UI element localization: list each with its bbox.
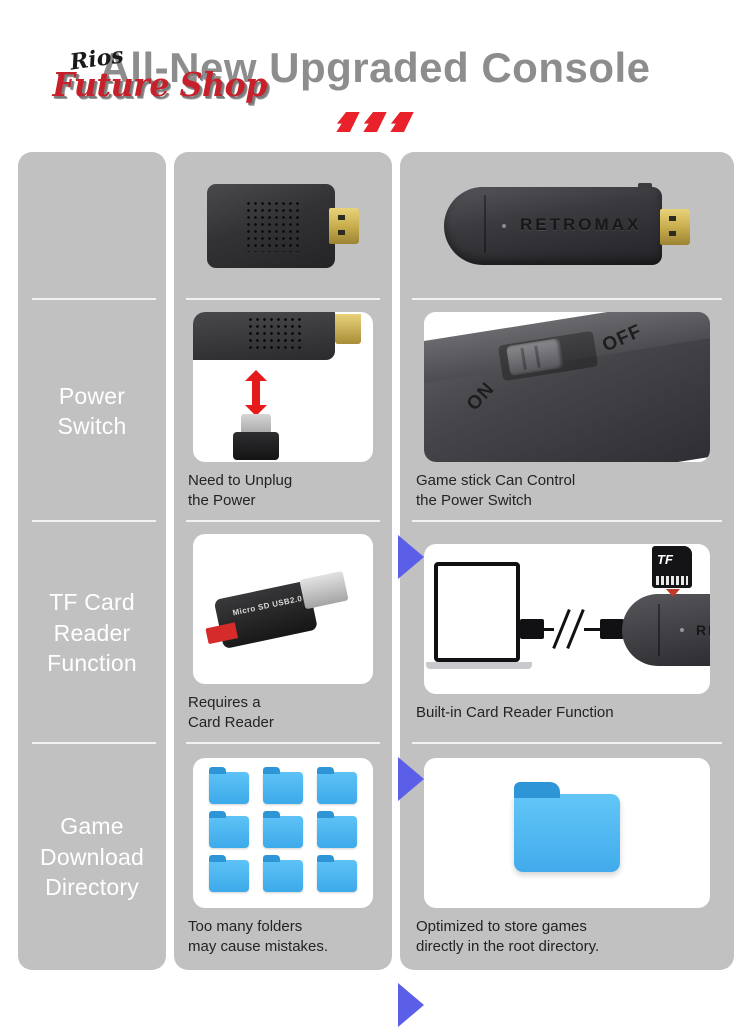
old-console-hero-cell [174, 152, 392, 300]
new-console-hero-cell: RETROMAX [400, 152, 734, 300]
new-directory-image [424, 758, 710, 908]
old-card-reader-caption: Requires a Card Reader [174, 693, 392, 731]
folder-icon [209, 772, 249, 804]
cable-segment [520, 628, 554, 631]
tf-card-label: TF [657, 552, 673, 567]
insert-arrow-icon [666, 589, 680, 597]
led-indicator-icon [680, 628, 684, 632]
new-power-switch-image: ON OFF [424, 312, 710, 462]
caption-line: Need to Unplug [188, 471, 392, 490]
device-nub [638, 183, 652, 189]
old-power-switch-image [193, 312, 373, 462]
caption-line: the Power [188, 491, 392, 510]
label-line: Game [40, 811, 144, 841]
old-directory-caption: Too many folders may cause mistakes. [174, 917, 392, 955]
comparison-grid: Power Switch TF Card Reader Function Gam… [0, 152, 750, 970]
feature-label-text: TF Card Reader Function [47, 587, 137, 678]
caption-line: Too many folders [188, 917, 392, 936]
label-line: Power [58, 381, 127, 411]
hdmi-connector-icon [329, 208, 359, 244]
vent-grid-icon [245, 200, 299, 252]
micro-usb-plug-icon [233, 414, 279, 460]
folder-icon [317, 860, 357, 892]
tf-card-pins [656, 576, 688, 585]
device-seam [484, 195, 486, 253]
cable-connector-icon [600, 619, 624, 639]
caption-line: may cause mistakes. [188, 937, 392, 956]
caption-line: Game stick Can Control [416, 471, 734, 490]
feature-label-tf-card-reader: TF Card Reader Function [18, 522, 166, 744]
comparison-arrow-icon [398, 535, 424, 579]
folder-icon [263, 772, 303, 804]
plug-tip [241, 414, 271, 434]
accent-mark-icon [363, 112, 386, 132]
folder-icon [263, 816, 303, 848]
led-indicator-icon [502, 224, 506, 228]
accent-marks [0, 112, 750, 132]
new-directory-caption: Optimized to store games directly in the… [400, 917, 734, 955]
new-card-reader-cell: RE TF Built-in Card Reader Function [400, 522, 734, 744]
device-seam [658, 604, 660, 656]
old-card-reader-cell: Micro SD USB2.0 Requires a Card Reader [174, 522, 392, 744]
old-console-photo [174, 152, 392, 300]
page-title: All-New Upgraded Console [0, 44, 750, 92]
new-power-switch-caption: Game stick Can Control the Power Switch [400, 471, 734, 509]
accent-mark-icon [336, 112, 359, 132]
new-console-device-icon: RETROMAX [444, 183, 690, 269]
tf-card-icon: TF [652, 546, 692, 588]
old-console-column: Need to Unplug the Power Micro SD USB2.0… [174, 152, 392, 970]
old-console-device-icon [207, 184, 359, 268]
hdmi-connector-icon [660, 209, 690, 245]
new-directory-cell: Optimized to store games directly in the… [400, 744, 734, 970]
on-off-switch-photo: ON OFF [424, 312, 710, 462]
folder-icon [209, 816, 249, 848]
plug-body [233, 432, 279, 460]
vent-grid-icon [247, 316, 305, 350]
caption-line: Optimized to store games [416, 917, 734, 936]
comparison-arrow-icon [398, 983, 424, 1027]
label-spacer-cell [18, 152, 166, 300]
device-brand-text: RE [696, 622, 710, 638]
unplug-illustration [199, 314, 367, 460]
feature-label-game-download-directory: Game Download Directory [18, 744, 166, 970]
caption-line: the Power Switch [416, 491, 734, 510]
new-power-switch-cell: ON OFF Game stick Can Control the Power … [400, 300, 734, 522]
cable-break-mark [566, 609, 585, 649]
laptop-base [426, 662, 532, 669]
folder-grid [209, 772, 357, 894]
new-card-reader-image: RE TF [424, 544, 710, 694]
feature-label-text: Power Switch [58, 381, 127, 442]
new-card-reader-caption: Built-in Card Reader Function [400, 703, 734, 722]
folder-icon [317, 816, 357, 848]
new-console-device-icon: RE [622, 594, 710, 666]
caption-line: Card Reader [188, 713, 392, 732]
caption-line: directly in the root directory. [416, 937, 734, 956]
usb-connector-icon [299, 571, 348, 609]
caption-line: Requires a [188, 693, 392, 712]
new-console-column: RETROMAX ON OFF Game stick Can Control [400, 152, 734, 970]
arrow-shaft [252, 378, 260, 408]
folder-icon [263, 860, 303, 892]
comparison-arrow-icon [398, 757, 424, 801]
up-down-arrow-icon [245, 370, 267, 416]
feature-label-text: Game Download Directory [40, 811, 144, 902]
label-line: Function [47, 648, 137, 678]
old-card-reader-image: Micro SD USB2.0 [193, 534, 373, 684]
folder-icon [209, 860, 249, 892]
label-line: Reader [47, 618, 137, 648]
caption-line: Built-in Card Reader Function [416, 703, 734, 722]
device-brand-text: RETROMAX [520, 215, 641, 235]
laptop-to-stick-diagram: RE TF [424, 544, 710, 694]
label-line: Switch [58, 411, 127, 441]
hdmi-connector-icon [335, 314, 361, 344]
folder-icon [514, 794, 620, 872]
old-power-switch-caption: Need to Unplug the Power [174, 471, 392, 509]
page-header: All-New Upgraded Console Rios Future Sho… [0, 0, 750, 148]
accent-mark-icon [390, 112, 413, 132]
old-power-switch-cell: Need to Unplug the Power [174, 300, 392, 522]
usb-card-reader-icon: Micro SD USB2.0 [212, 565, 354, 653]
label-line: Directory [40, 872, 144, 902]
label-line: Download [40, 842, 144, 872]
folder-icon [317, 772, 357, 804]
label-line: TF Card [47, 587, 137, 617]
new-console-photo: RETROMAX [400, 152, 734, 300]
feature-label-column: Power Switch TF Card Reader Function Gam… [18, 152, 166, 970]
old-directory-cell: Too many folders may cause mistakes. [174, 744, 392, 970]
old-directory-image [193, 758, 373, 908]
feature-label-power-switch: Power Switch [18, 300, 166, 522]
laptop-icon [434, 562, 520, 662]
